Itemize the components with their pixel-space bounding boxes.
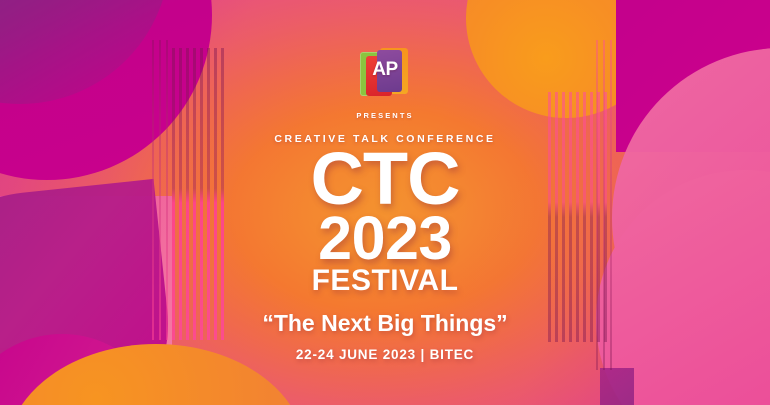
date-venue-line: 22-24 JUNE 2023 | BITEC: [296, 347, 474, 362]
title-year: 2023: [318, 212, 452, 266]
presents-label: PRESENTS: [356, 111, 413, 120]
title-festival: FESTIVAL: [312, 266, 459, 296]
page-title: CTC: [310, 149, 459, 210]
ctc-2023-festival-poster: AP PRESENTS CREATIVE TALK CONFERENCE CTC…: [0, 0, 770, 405]
tagline: “The Next Big Things”: [262, 310, 507, 337]
ap-logo-icon: AP: [358, 46, 412, 102]
ap-wordmark: AP: [358, 60, 412, 79]
poster-content: AP PRESENTS CREATIVE TALK CONFERENCE CTC…: [0, 0, 770, 405]
